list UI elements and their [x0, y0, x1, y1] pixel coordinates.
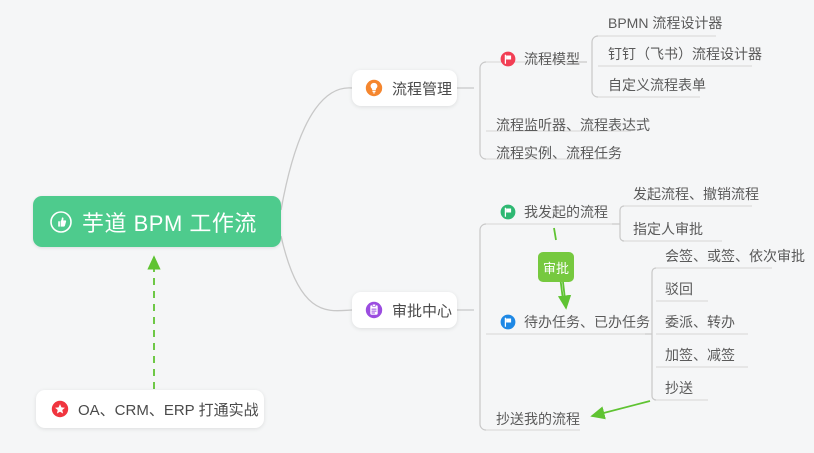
leaf-delegate-transfer[interactable]: 委派、转办 — [660, 309, 741, 335]
leaf-label-cc-to-me: 抄送我的流程 — [496, 406, 580, 432]
leaf-label-reject: 驳回 — [665, 276, 693, 302]
leaf-listener-expression[interactable]: 流程监听器、流程表达式 — [491, 112, 656, 138]
sub-label-process-model: 流程模型 — [524, 46, 580, 72]
leaf-dingtalk-feishu-designer[interactable]: 钉钉（飞书）流程设计器 — [603, 41, 768, 67]
clipboard-icon — [365, 301, 383, 319]
leaf-label-instance-task: 流程实例、流程任务 — [496, 140, 622, 166]
leaf-assignee-approval[interactable]: 指定人审批 — [628, 216, 709, 242]
leaf-instance-task[interactable]: 流程实例、流程任务 — [491, 140, 628, 166]
sub-label-my-initiated: 我发起的流程 — [524, 199, 608, 225]
sub-label-todo-done: 待办任务、已办任务 — [524, 309, 650, 335]
flag-blue-icon — [500, 314, 516, 330]
leaf-label-custom-process-form: 自定义流程表单 — [608, 72, 706, 98]
footnote-label: OA、CRM、ERP 打通实战 — [78, 399, 259, 420]
leaf-label-cc: 抄送 — [665, 375, 693, 401]
leaf-label-multi-sign: 会签、或签、依次审批 — [665, 243, 805, 269]
branch-label-approval-center: 审批中心 — [392, 300, 452, 321]
branch-node-process-management[interactable]: 流程管理 — [352, 70, 457, 106]
flag-green-icon — [500, 204, 516, 220]
leaf-label-listener-expression: 流程监听器、流程表达式 — [496, 112, 650, 138]
edge-initiated-spine — [620, 206, 624, 241]
leaf-label-bpmn-designer: BPMN 流程设计器 — [608, 10, 722, 36]
leaf-multi-sign[interactable]: 会签、或签、依次审批 — [660, 243, 811, 269]
root-label: 芋道 BPM 工作流 — [82, 206, 257, 238]
edge-root-to-approval-center — [281, 236, 352, 311]
leaf-label-delegate-transfer: 委派、转办 — [665, 309, 735, 335]
footnote-node[interactable]: OA、CRM、ERP 打通实战 — [36, 390, 264, 428]
callout-label: 审批 — [543, 258, 569, 277]
edge-pm-model-spine — [592, 36, 598, 97]
leaf-label-dingtalk-feishu-designer: 钉钉（飞书）流程设计器 — [608, 41, 762, 67]
leaf-custom-process-form[interactable]: 自定义流程表单 — [603, 72, 712, 98]
leaf-reject[interactable]: 驳回 — [660, 276, 699, 302]
leaf-label-start-cancel: 发起流程、撤销流程 — [633, 181, 759, 207]
leaf-cc-to-me[interactable]: 抄送我的流程 — [491, 406, 586, 432]
lightbulb-icon — [365, 79, 383, 97]
mindmap-canvas: 芋道 BPM 工作流 流程管理 流程模型 流程监听器、流程表达式 流程实例、流程 — [0, 0, 814, 453]
leaf-cc[interactable]: 抄送 — [660, 375, 699, 401]
edge-root-to-process-management — [281, 88, 352, 210]
edge-ac-spine — [480, 224, 486, 430]
leaf-add-remove-sign[interactable]: 加签、减签 — [660, 342, 741, 368]
root-node[interactable]: 芋道 BPM 工作流 — [33, 196, 281, 247]
sub-node-my-initiated[interactable]: 我发起的流程 — [495, 199, 614, 225]
flag-red-icon — [500, 51, 516, 67]
edge-pm-spine — [480, 62, 486, 159]
star-icon — [51, 400, 69, 418]
leaf-label-add-remove-sign: 加签、减签 — [665, 342, 735, 368]
leaf-bpmn-designer[interactable]: BPMN 流程设计器 — [603, 10, 728, 36]
sub-node-process-model[interactable]: 流程模型 — [495, 46, 586, 72]
leaf-start-cancel[interactable]: 发起流程、撤销流程 — [628, 181, 765, 207]
callout-approval[interactable]: 审批 — [538, 252, 574, 282]
sub-node-todo-done[interactable]: 待办任务、已办任务 — [495, 309, 656, 335]
leaf-label-assignee-approval: 指定人审批 — [633, 216, 703, 242]
branch-label-process-management: 流程管理 — [392, 78, 452, 99]
branch-node-approval-center[interactable]: 审批中心 — [352, 292, 457, 328]
arrow-initiated-to-todo-head — [563, 282, 566, 308]
arrow-cc-to-ccme — [592, 401, 650, 416]
thumbs-up-icon — [50, 211, 72, 233]
